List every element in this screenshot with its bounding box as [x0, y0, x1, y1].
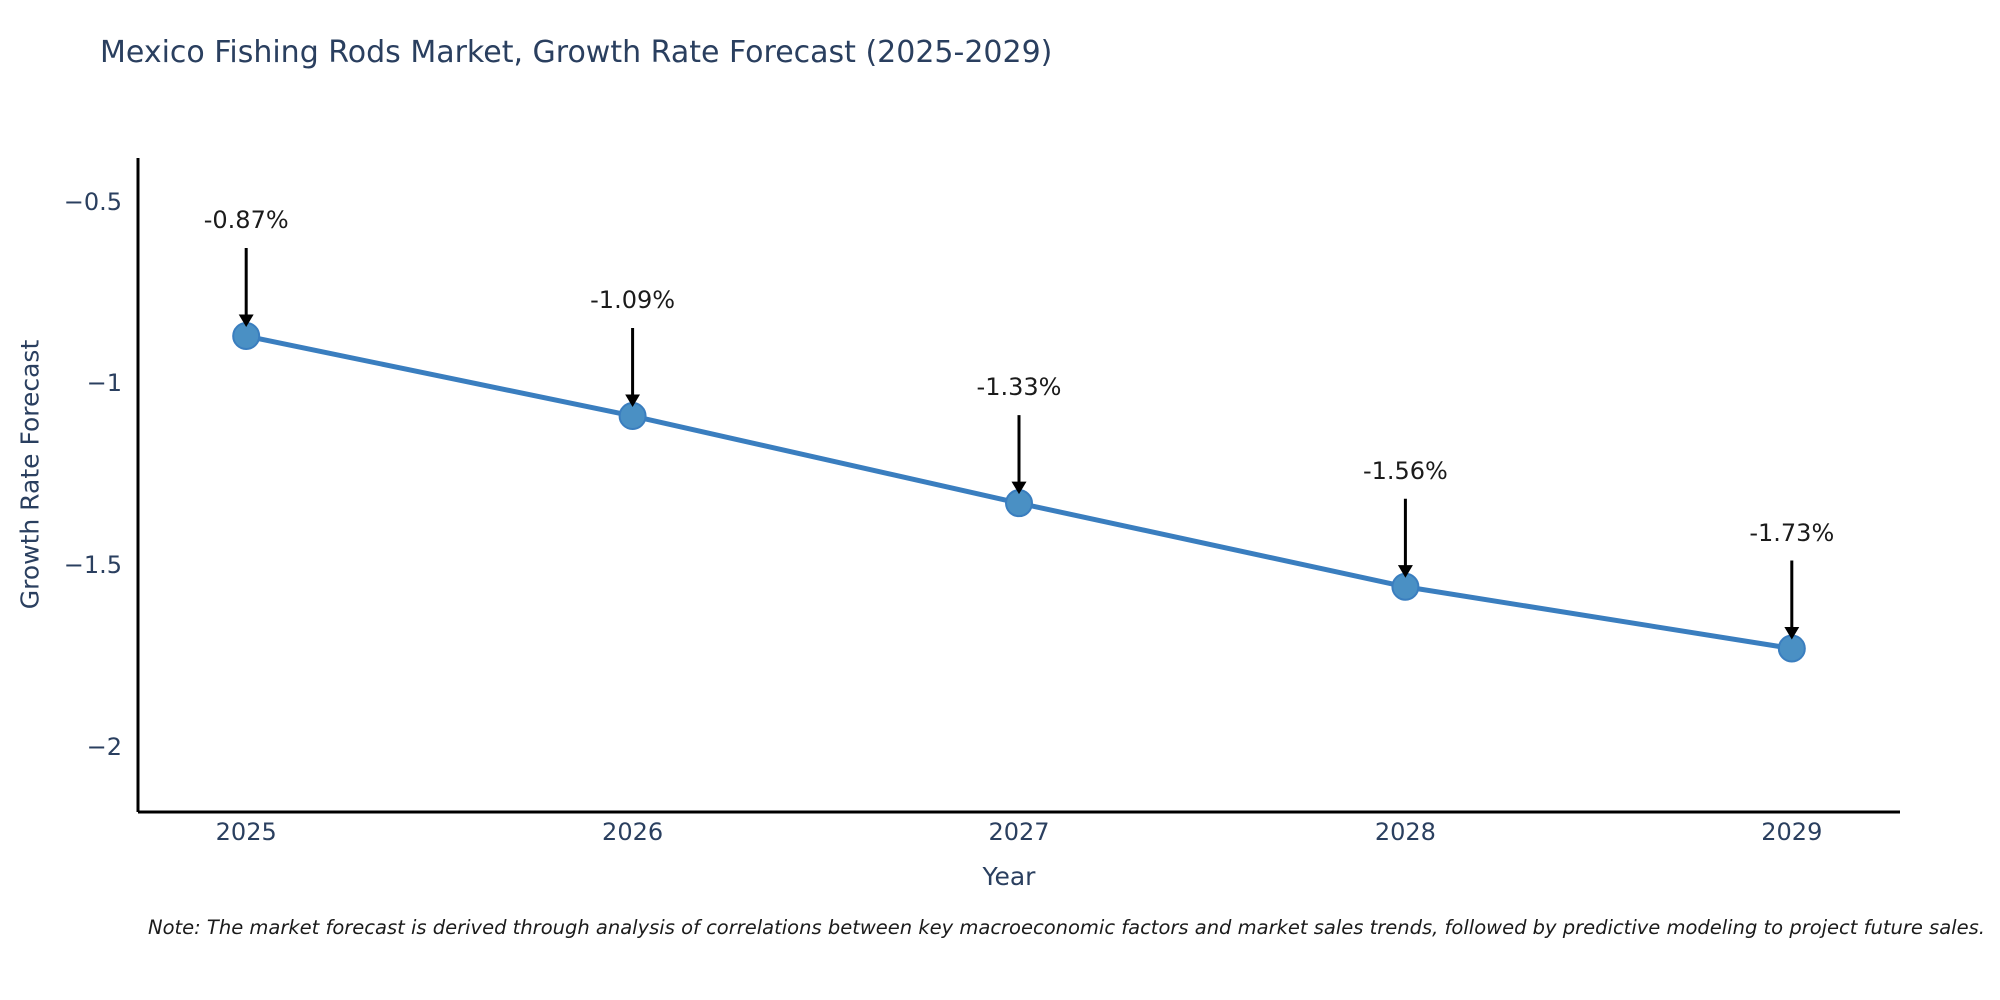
x-axis-tick-label: 2025: [216, 818, 277, 846]
data-point-marker[interactable]: [1779, 636, 1805, 662]
x-axis-tick-label: 2027: [988, 818, 1049, 846]
point-value-label: -1.09%: [590, 286, 675, 314]
x-axis-title: Year: [983, 862, 1036, 891]
y-axis-tick-label: −0.5: [0, 188, 122, 216]
x-axis-title-wrap: Year: [0, 862, 2000, 891]
point-value-label: -1.73%: [1749, 519, 1834, 547]
x-axis-tick-label: 2028: [1375, 818, 1436, 846]
point-value-label: -1.56%: [1363, 457, 1448, 485]
data-point-marker[interactable]: [1006, 490, 1032, 516]
y-axis-tick-label: −1.5: [0, 551, 122, 579]
x-axis-tick-label: 2029: [1761, 818, 1822, 846]
point-value-label: -0.87%: [204, 206, 289, 234]
chart-figure: Mexico Fishing Rods Market, Growth Rate …: [0, 0, 2000, 1000]
chart-footnote: Note: The market forecast is derived thr…: [148, 916, 2000, 939]
data-point-marker[interactable]: [233, 323, 259, 349]
y-axis-tick-label: −1: [0, 369, 122, 397]
y-axis-ticks: −0.5−1−1.5−2: [0, 0, 122, 1000]
plot-canvas: [0, 0, 2000, 1000]
annotation-arrows: [246, 248, 1792, 630]
y-axis-tick-label: −2: [0, 733, 122, 761]
data-point-marker[interactable]: [1392, 574, 1418, 600]
x-axis-tick-label: 2026: [602, 818, 663, 846]
point-value-label: -1.33%: [977, 373, 1062, 401]
data-point-marker[interactable]: [620, 403, 646, 429]
